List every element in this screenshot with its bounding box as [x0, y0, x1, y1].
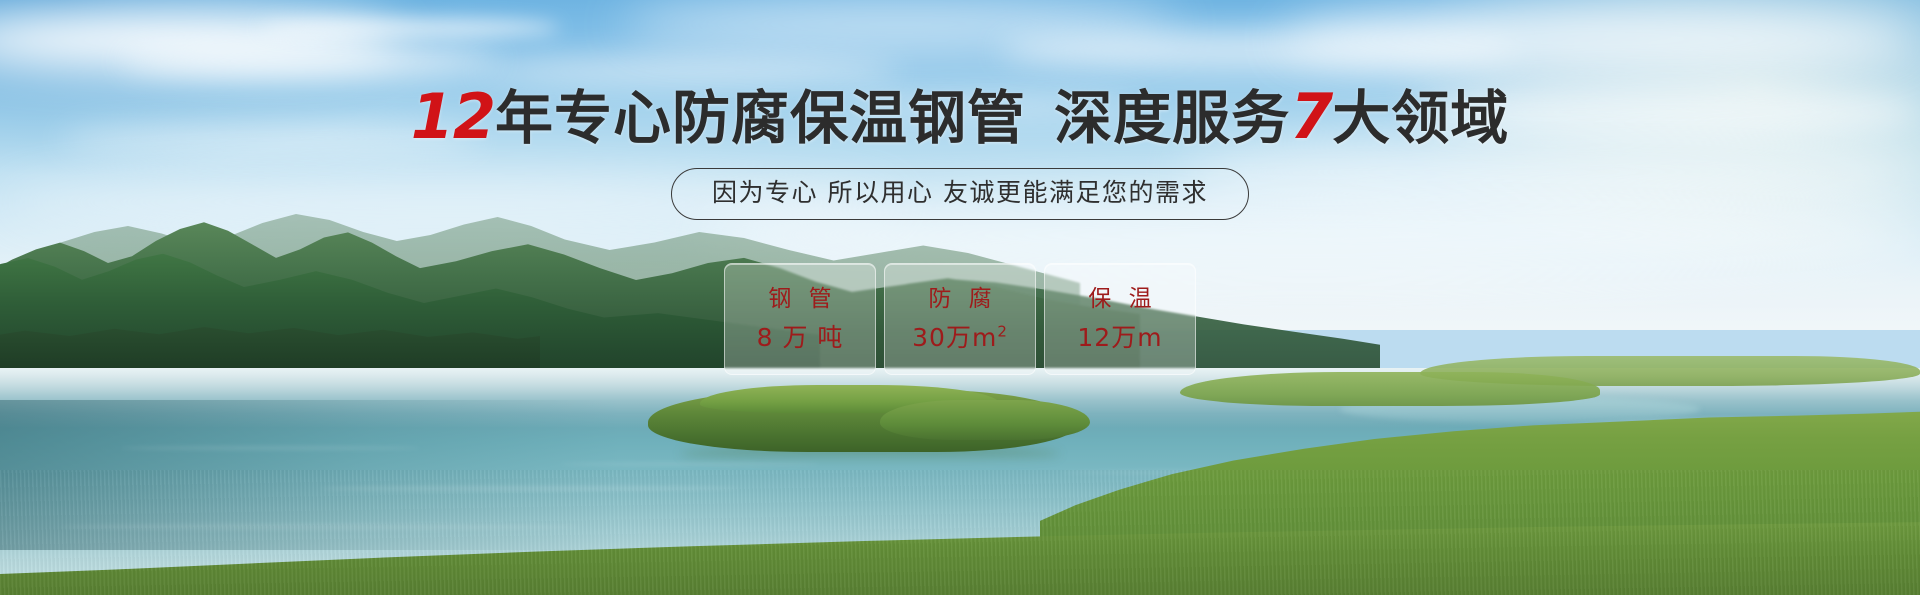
cloud-icon — [480, 58, 900, 84]
stat-card-value-base: 12万m — [1077, 323, 1162, 352]
stat-card-value-base: 8 万 吨 — [757, 323, 844, 352]
headline-fields-number: 7 — [1290, 80, 1332, 153]
promo-banner: 12年专心防腐保温钢管深度服务7大领域 因为专心 所以用心 友诚更能满足您的需求… — [0, 0, 1920, 595]
water-ripple — [320, 486, 740, 491]
headline-segment-3: 大领域 — [1332, 84, 1509, 152]
subtitle-pill: 因为专心 所以用心 友诚更能满足您的需求 — [671, 168, 1249, 220]
stat-card-value-base: 30万m — [912, 323, 997, 352]
stat-card-steel-pipe: 钢 管 8 万 吨 — [724, 263, 876, 375]
stat-card-anticorrosion: 防 腐 30万m2 — [884, 263, 1036, 375]
water-ripple — [120, 446, 420, 450]
cloud-icon — [260, 18, 560, 38]
headline-segment-2: 深度服务 — [1054, 84, 1290, 152]
water-ripple — [560, 462, 820, 466]
stat-card-value: 12万m — [1077, 324, 1162, 352]
stat-card-value: 8 万 吨 — [757, 324, 844, 352]
water-ripple — [60, 524, 580, 530]
stat-card-value: 30万m2 — [912, 324, 1008, 352]
headline-segment-1: 年专心防腐保温钢管 — [495, 84, 1026, 152]
grass-patch-mid — [1180, 372, 1600, 406]
stat-card-label: 钢 管 — [763, 286, 836, 312]
stat-card-value-superscript: 2 — [997, 323, 1008, 341]
subtitle-pill-container: 因为专心 所以用心 友诚更能满足您的需求 — [0, 168, 1920, 220]
stat-card-insulation: 保 温 12万m — [1044, 263, 1196, 375]
cloud-icon — [1280, 4, 1920, 74]
stat-card-label: 保 温 — [1083, 286, 1156, 312]
headline-years-number: 12 — [411, 80, 495, 153]
banner-headline: 12年专心防腐保温钢管深度服务7大领域 — [0, 85, 1920, 150]
stat-cards-row: 钢 管 8 万 吨 防 腐 30万m2 保 温 12万m — [0, 263, 1920, 375]
grass-island-right — [880, 400, 1090, 440]
cloud-icon — [120, 46, 500, 76]
stat-card-label: 防 腐 — [923, 286, 996, 312]
